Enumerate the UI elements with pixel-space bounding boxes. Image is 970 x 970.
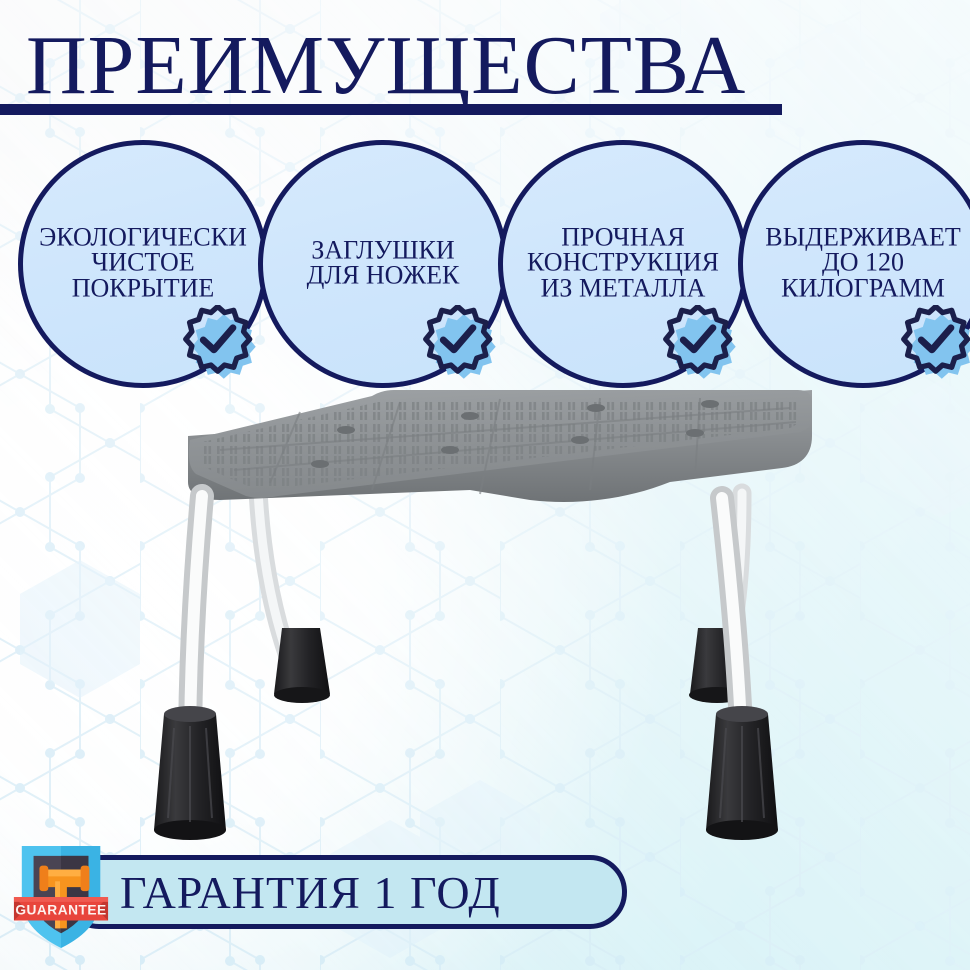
product-image-step-stool bbox=[150, 378, 860, 848]
check-badge-icon-4 bbox=[900, 305, 970, 381]
page-title: ПРЕИМУЩЕСТВА bbox=[26, 24, 746, 108]
feature-label-4: ВЫДЕРЖИВАЕТ ДО 120 КИЛОГРАММ bbox=[729, 224, 970, 300]
feature-label-3: ПРОЧНАЯ КОНСТРУКЦИЯ ИЗ МЕТАЛЛА bbox=[489, 224, 757, 300]
rear-legs bbox=[258, 490, 745, 703]
title-underline bbox=[0, 104, 782, 115]
check-badge-icon-2 bbox=[422, 305, 498, 381]
guarantee-badge-text: GUARANTEE bbox=[15, 903, 106, 918]
check-badge-icon-3 bbox=[662, 305, 738, 381]
promo-banner: ПРЕИМУЩЕСТВА ЭКОЛОГИЧЕСКИ ЧИСТОЕ ПОКРЫТИ… bbox=[0, 0, 970, 970]
guarantee-shield-icon: GUARANTEE bbox=[12, 838, 110, 954]
feature-label-2: ЗАГЛУШКИ ДЛЯ НОЖЕК bbox=[249, 238, 517, 289]
front-rubber-feet bbox=[154, 706, 778, 840]
guarantee-label: ГАРАНТИЯ 1 ГОД bbox=[120, 858, 640, 928]
check-badge-icon-1 bbox=[182, 305, 258, 381]
feature-label-1: ЭКОЛОГИЧЕСКИ ЧИСТОЕ ПОКРЫТИЕ bbox=[9, 224, 277, 300]
